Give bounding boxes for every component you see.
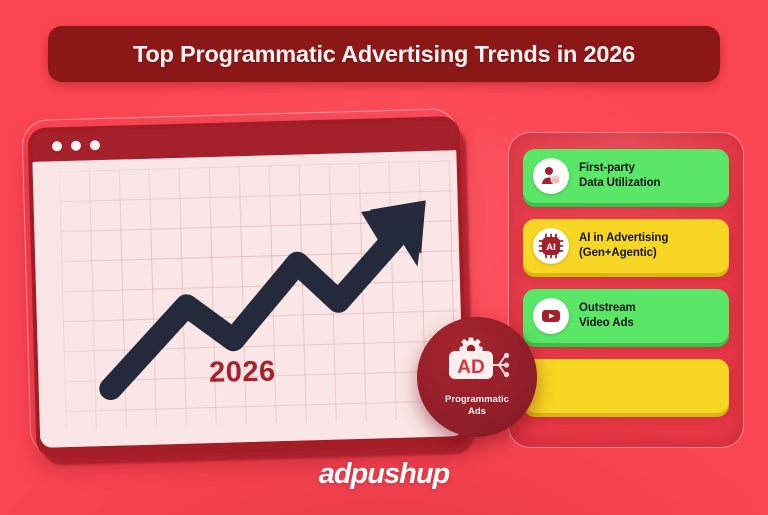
trend-card-label: First-party Data Utilization [579,161,660,191]
trend-card-label-line1: First-party [579,161,660,176]
trend-card-label: AI in Advertising (Gen+Agentic) [579,231,668,261]
ai-chip-icon: AI [533,228,569,264]
trends-card-panel: First-party Data Utilization [508,132,744,448]
user-data-icon [533,158,569,194]
badge-caption-line2: Ads [445,406,509,418]
video-play-icon [533,298,569,334]
window-dot-maximize-icon[interactable] [90,140,100,150]
trend-card-label-line2: Video Ads [579,316,636,331]
trend-card-label-line1: AI in Advertising [579,231,668,246]
window-dot-close-icon[interactable] [52,141,62,151]
svg-text:AD: AD [457,357,484,378]
ad-gear-circuit-icon: AD [441,337,513,389]
trend-card-partial[interactable] [523,359,729,413]
window-dot-minimize-icon[interactable] [71,141,81,151]
page-title: Top Programmatic Advertising Trends in 2… [133,41,635,68]
badge-caption: Programmatic Ads [445,394,509,418]
growth-arrow-chart [32,150,464,448]
title-banner: Top Programmatic Advertising Trends in 2… [48,26,720,82]
trend-card-label-line2: Data Utilization [579,176,660,191]
browser-mockup: 2026 [27,116,468,458]
trend-card-label-line2: (Gen+Agentic) [579,246,668,261]
chart-year-label: 2026 [208,356,275,390]
trend-card-first-party-data[interactable]: First-party Data Utilization [523,149,729,203]
browser-screen: 2026 [32,150,464,448]
trend-card-outstream-video[interactable]: Outstream Video Ads [523,289,729,343]
adpushup-logo: adpushup [0,458,768,491]
programmatic-ads-badge: AD Programmatic Ads [417,317,537,437]
badge-caption-line1: Programmatic [445,394,509,406]
svg-text:AI: AI [546,242,556,253]
trend-card-label: Outstream Video Ads [579,301,636,331]
trend-card-label-line1: Outstream [579,301,636,316]
trend-card-ai-advertising[interactable]: AI AI in Advertising (Gen+Agentic) [523,219,729,273]
browser-window: 2026 [27,116,468,458]
